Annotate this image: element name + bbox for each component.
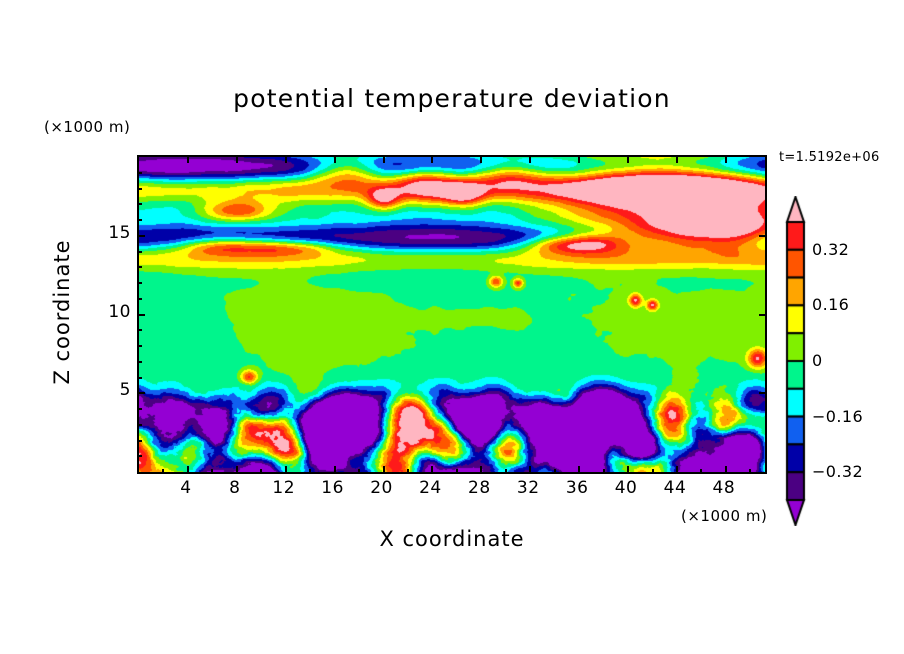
y-tick-label: 10 (97, 302, 131, 322)
x-tick-top (480, 155, 482, 163)
x-tick (383, 466, 385, 474)
x-tick-minor (309, 469, 311, 474)
x-tick (529, 466, 531, 474)
colorbar-tick-label: 0 (812, 351, 823, 370)
y-tick (137, 314, 145, 316)
x-tick (431, 466, 433, 474)
x-tick-label: 16 (313, 478, 353, 498)
x-tick-minor (603, 469, 605, 474)
x-tick-label: 48 (704, 478, 744, 498)
x-tick-label: 40 (606, 478, 646, 498)
x-tick-top (529, 155, 531, 163)
contour-field (139, 157, 765, 472)
y-tick-minor (137, 345, 142, 347)
x-tick-label: 20 (362, 478, 402, 498)
x-tick-minor (554, 469, 556, 474)
y-tick-minor (137, 298, 142, 300)
y-tick-minor (137, 408, 142, 410)
x-tick-top (725, 155, 727, 163)
y-tick-minor (137, 282, 142, 284)
x-tick-minor (505, 469, 507, 474)
y-tick-minor (137, 266, 142, 268)
x-tick (285, 466, 287, 474)
plot-area[interactable] (137, 155, 767, 474)
x-tick-top (187, 155, 189, 163)
y-tick-minor (137, 455, 142, 457)
y-tick-minor (137, 219, 142, 221)
colorbar[interactable]: 0.320.160−0.16−0.32 (781, 196, 901, 526)
x-tick (480, 466, 482, 474)
x-tick (578, 466, 580, 474)
y-tick-label: 15 (97, 223, 131, 243)
x-tick-top (334, 155, 336, 163)
x-tick (627, 466, 629, 474)
colorbar-tick-label: 0.32 (812, 240, 849, 259)
x-tick-minor (652, 469, 654, 474)
y-tick-minor (137, 172, 142, 174)
x-tick (236, 466, 238, 474)
timestamp-annotation: t=1.5192e+06 (779, 150, 880, 165)
x-tick-label: 36 (557, 478, 597, 498)
x-tick-label: 8 (215, 478, 255, 498)
x-tick-label: 32 (508, 478, 548, 498)
y-axis-unit-label: (×1000 m) (44, 118, 130, 136)
x-tick-top (383, 155, 385, 163)
x-tick-label: 12 (264, 478, 304, 498)
y-tick-minor (137, 188, 142, 190)
x-tick-top (236, 155, 238, 163)
x-tick (725, 466, 727, 474)
x-tick-top (578, 155, 580, 163)
x-tick-minor (456, 469, 458, 474)
y-tick (137, 235, 145, 237)
figure-canvas: potential temperature deviation (×1000 m… (0, 0, 904, 654)
x-tick-top (285, 155, 287, 163)
y-tick-minor (137, 361, 142, 363)
colorbar-tick-label: 0.16 (812, 295, 849, 314)
y-tick-minor (137, 440, 142, 442)
x-tick-top (676, 155, 678, 163)
x-tick (334, 466, 336, 474)
x-tick-label: 44 (655, 478, 695, 498)
x-tick (187, 466, 189, 474)
y-tick-right (759, 235, 767, 237)
x-tick-minor (407, 469, 409, 474)
x-tick-label: 28 (459, 478, 499, 498)
colorbar-tick-label: −0.32 (812, 462, 863, 481)
page-title: potential temperature deviation (0, 84, 904, 113)
x-tick (676, 466, 678, 474)
y-axis-title: Z coordinate (50, 212, 74, 412)
x-tick-minor (260, 469, 262, 474)
x-axis-unit-label: (×1000 m) (681, 507, 767, 525)
y-tick-minor (137, 329, 142, 331)
x-tick-minor (211, 469, 213, 474)
x-tick-top (627, 155, 629, 163)
x-axis-title: X coordinate (0, 527, 904, 551)
x-tick-top (431, 155, 433, 163)
y-tick (137, 392, 145, 394)
x-tick-label: 4 (166, 478, 206, 498)
x-tick-minor (749, 469, 751, 474)
y-tick-right (759, 314, 767, 316)
y-tick-minor (137, 203, 142, 205)
x-tick-minor (358, 469, 360, 474)
y-tick-minor (137, 424, 142, 426)
y-tick-label: 5 (97, 380, 131, 400)
y-tick-minor (137, 377, 142, 379)
x-tick-minor (700, 469, 702, 474)
y-tick-minor (137, 251, 142, 253)
x-tick-minor (162, 469, 164, 474)
x-tick-label: 24 (410, 478, 450, 498)
colorbar-tick-label: −0.16 (812, 407, 863, 426)
y-tick-right (759, 392, 767, 394)
